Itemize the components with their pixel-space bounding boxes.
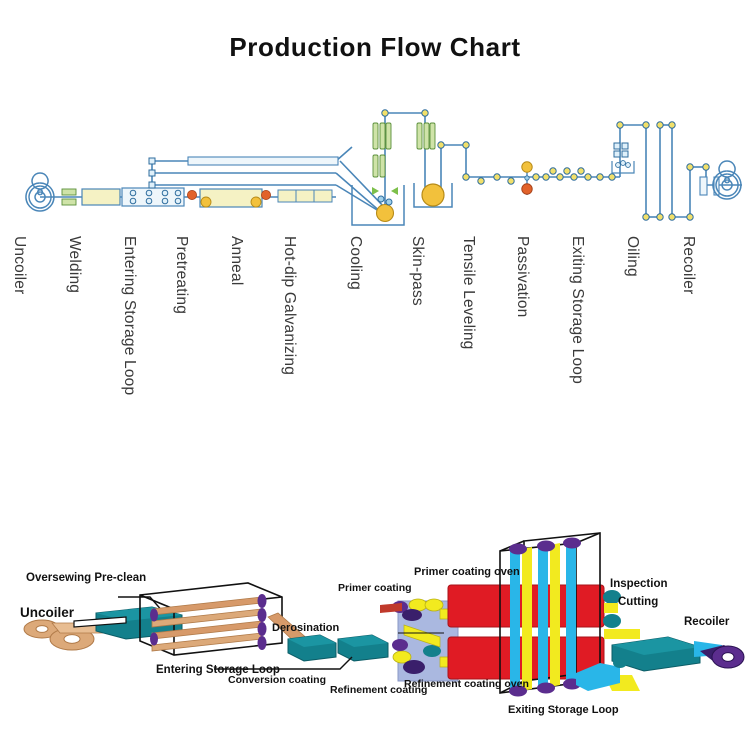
stage-label-row: Uncoiler Welding Entering Storage Loop P… [0,236,750,436]
stage-label-uncoiler: Uncoiler [10,236,28,294]
stage-label-hot-dip-galvanizing: Hot-dip Galvanizing [280,236,298,375]
entering-storage-loop-unit [122,158,184,206]
ill-label-oversewing-preclean: Oversewing Pre-clean [26,572,146,584]
ill-label-derosination: Derosination [272,622,340,634]
stage-label-tensile-leveling: Tensile Leveling [459,236,477,350]
exiting-storage-loop-unit [612,122,693,220]
illustration-svg: Oversewing Pre-clean Uncoiler Entering S… [0,505,750,735]
ill-label-recoiler: Recoiler [684,616,730,628]
skin-pass-mill [414,183,452,207]
conversion-coating-unit [338,635,388,661]
stage-label-pretreating: Pretreating [172,236,190,314]
ill-label-uncoiler: Uncoiler [20,605,75,620]
stage-label-recoiler: Recoiler [679,236,697,294]
galvanizing-line-schematic [0,85,750,245]
stage-label-welding: Welding [65,236,83,293]
tensile-leveling-rollers [438,142,514,184]
ill-label-primer-coating-oven: Primer coating oven [414,566,520,578]
stage-label-exiting-storage-loop: Exiting Storage Loop [568,236,586,384]
stage-label-entering-storage-loop: Entering Storage Loop [120,236,138,395]
ill-label-primer-coating: Primer coating [338,582,412,594]
hot-dip-galvanizing-pot [352,185,404,225]
uncoiler-spiral-icon [26,173,54,211]
pretreating-unit [187,189,270,207]
stage-label-oiling: Oiling [623,236,641,277]
derosination-unit [288,635,336,661]
stage-label-passivation: Passivation [513,236,531,317]
ill-label-cutting: Cutting [618,596,658,608]
page-title: Production Flow Chart [0,32,750,63]
stage-label-skin-pass: Skin-pass [408,236,426,306]
schematic-svg [0,85,750,245]
ill-label-conversion-coating: Conversion coating [228,674,326,686]
stage-label-cooling: Cooling [346,236,364,290]
passivation-unit [522,162,615,195]
ill-label-refinement-coating-oven: Refinement coating oven [404,678,529,690]
ill-label-inspection: Inspection [610,578,668,590]
stage-label-anneal: Anneal [227,236,245,285]
ill-label-exiting-storage-loop: Exiting Storage Loop [508,704,619,716]
coil-coating-line-illustration: Oversewing Pre-clean Uncoiler Entering S… [0,505,750,735]
